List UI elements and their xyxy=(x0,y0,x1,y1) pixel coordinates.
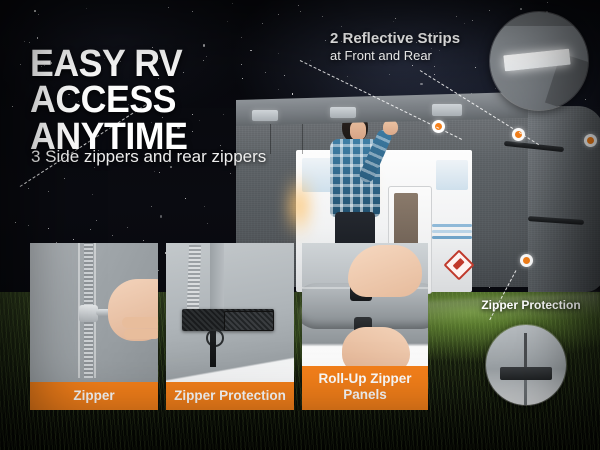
person-hand xyxy=(383,120,398,135)
callout-zipper-protection: Zipper Protection xyxy=(466,298,596,312)
zipper-line xyxy=(524,333,527,369)
thumbnail-zipper-protection[interactable]: Zipper Protection xyxy=(166,243,294,410)
page-title: EASY RV ACCESS ANYTIME xyxy=(30,46,312,155)
thumbnail-label: Zipper xyxy=(30,382,158,410)
feature-thumbnail-strip: Zipper Zipper Protection Roll-Up Zipper … xyxy=(30,243,428,410)
callout-reflective-strips: 2 Reflective Strips at Front and Rear xyxy=(330,30,510,65)
zipper-marker-dot[interactable] xyxy=(520,254,533,267)
zipper-slider xyxy=(79,305,98,322)
velcro-strap-overlay xyxy=(224,311,274,331)
interior-light-glow xyxy=(288,160,310,252)
reflective-patch xyxy=(432,104,462,116)
product-banner: EASY RV ACCESS ANYTIME 3 Side zippers an… xyxy=(0,0,600,450)
thumbnail-roll-up-zipper-panels[interactable]: Roll-Up Zipper Panels xyxy=(302,243,428,410)
thumbnail-label: Zipper Protection xyxy=(166,382,294,410)
support-post xyxy=(524,380,527,405)
rv-warning-decal xyxy=(443,249,474,280)
zipper-protection-inset xyxy=(486,325,566,405)
callout-title: 2 Reflective Strips xyxy=(330,30,510,47)
callout-subtitle: at Front and Rear xyxy=(330,48,510,65)
hand xyxy=(348,245,422,297)
rv-stripe xyxy=(432,230,472,233)
person-face xyxy=(350,121,366,140)
zipper-marker-dot[interactable] xyxy=(584,134,597,147)
fabric-fold xyxy=(490,12,588,26)
thumbnail-zipper[interactable]: Zipper xyxy=(30,243,158,410)
subheading: 3 Side zippers and rear zippers xyxy=(31,146,301,169)
zipper-flap xyxy=(210,243,224,315)
thumbnail-label: Roll-Up Zipper Panels xyxy=(302,366,428,410)
finger xyxy=(124,329,158,339)
rv-stripe xyxy=(432,224,472,227)
zipper-teeth xyxy=(187,245,201,309)
velcro-strap xyxy=(500,367,552,380)
rv-stripe xyxy=(432,236,472,239)
finger xyxy=(122,317,158,328)
reflective-patch xyxy=(330,107,356,118)
strap-tail xyxy=(210,331,216,367)
rv-window xyxy=(436,160,468,190)
